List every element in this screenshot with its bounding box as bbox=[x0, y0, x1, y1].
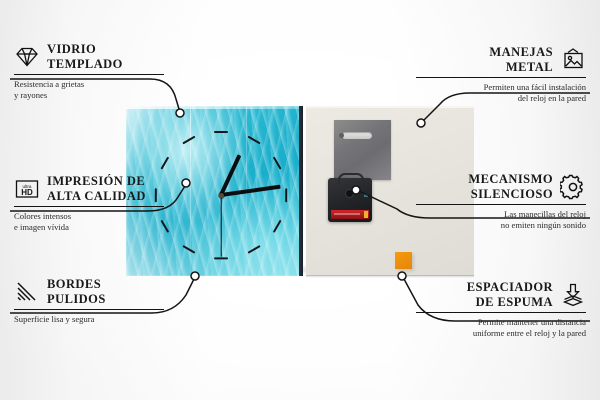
infographic-canvas: VIDRIO TEMPLADO Resistencia a grietas y … bbox=[0, 0, 600, 400]
feature-rule bbox=[416, 77, 586, 78]
polished-edge-icon bbox=[14, 279, 40, 305]
hanger-slot bbox=[342, 132, 372, 139]
feature-header: VIDRIO TEMPLADO bbox=[14, 42, 164, 71]
feature-desc: Colores intensos e imagen vívida bbox=[14, 211, 164, 233]
second-hand bbox=[220, 195, 221, 257]
feature-rule bbox=[14, 74, 164, 75]
feature-rule bbox=[416, 312, 586, 313]
feature-title: ESPACIADOR DE ESPUMA bbox=[467, 280, 553, 309]
feature-desc: Las manecillas del reloj no emiten ningú… bbox=[416, 209, 586, 231]
feature-title: MECANISMO SILENCIOSO bbox=[468, 172, 553, 201]
feature-desc: Permiten una fácil instalación del reloj… bbox=[416, 82, 586, 104]
feature-header: MANEJAS METAL bbox=[416, 45, 586, 74]
gear-icon bbox=[560, 174, 586, 200]
back-panel-top-edge bbox=[306, 106, 474, 108]
diamond-icon bbox=[14, 44, 40, 70]
feature-title: MANEJAS METAL bbox=[489, 45, 553, 74]
feature-header: MECANISMO SILENCIOSO bbox=[416, 172, 586, 201]
spacer-arrow-icon bbox=[560, 282, 586, 308]
svg-text:HD: HD bbox=[21, 188, 33, 197]
feature-title: VIDRIO TEMPLADO bbox=[47, 42, 123, 71]
feature-vidrio-templado: VIDRIO TEMPLADO Resistencia a grietas y … bbox=[14, 42, 164, 101]
feature-impresion-alta-calidad: ultra HD IMPRESIÓN DE ALTA CALIDAD Color… bbox=[14, 174, 164, 233]
feature-rule bbox=[14, 206, 164, 207]
feature-desc: Resistencia a grietas y rayones bbox=[14, 79, 164, 101]
feature-mecanismo-silencioso: MECANISMO SILENCIOSO Las manecillas del … bbox=[416, 172, 586, 231]
hanger-slot-hole bbox=[339, 133, 344, 138]
clock-tick bbox=[214, 257, 228, 259]
feature-header: ESPACIADOR DE ESPUMA bbox=[416, 280, 586, 309]
feature-header: BORDES PULIDOS bbox=[14, 277, 164, 306]
back-panel-bottom-shadow bbox=[306, 275, 474, 278]
clock-center-hub bbox=[219, 193, 224, 198]
feature-title: BORDES PULIDOS bbox=[47, 277, 106, 306]
metal-hanger-plate bbox=[334, 120, 391, 180]
picture-hanger-icon bbox=[560, 47, 586, 73]
feature-espaciador-espuma: ESPACIADOR DE ESPUMA Permite mantener un… bbox=[416, 280, 586, 339]
ultra-hd-icon: ultra HD bbox=[14, 176, 40, 202]
feature-title: IMPRESIÓN DE ALTA CALIDAD bbox=[47, 174, 146, 203]
feature-desc: Permite mantener una distancia uniforme … bbox=[416, 317, 586, 339]
feature-header: ultra HD IMPRESIÓN DE ALTA CALIDAD bbox=[14, 174, 164, 203]
feature-manejas-metal: MANEJAS METAL Permiten una fácil instala… bbox=[416, 45, 586, 104]
foam-spacer bbox=[395, 252, 412, 269]
feature-bordes-pulidos: BORDES PULIDOS Superficie lisa y segura bbox=[14, 277, 164, 325]
battery-stripe bbox=[334, 213, 360, 215]
feature-rule bbox=[416, 204, 586, 205]
mechanism-shaft bbox=[345, 189, 354, 198]
glass-right-edge bbox=[299, 106, 303, 276]
feature-desc: Superficie lisa y segura bbox=[14, 314, 164, 325]
mechanism-hook bbox=[338, 173, 364, 184]
battery bbox=[331, 210, 369, 219]
clock-tick bbox=[285, 188, 287, 202]
mechanism-label bbox=[364, 194, 368, 197]
glass-top-edge bbox=[126, 106, 303, 109]
clock-mechanism bbox=[328, 178, 372, 222]
feature-rule bbox=[14, 309, 164, 310]
